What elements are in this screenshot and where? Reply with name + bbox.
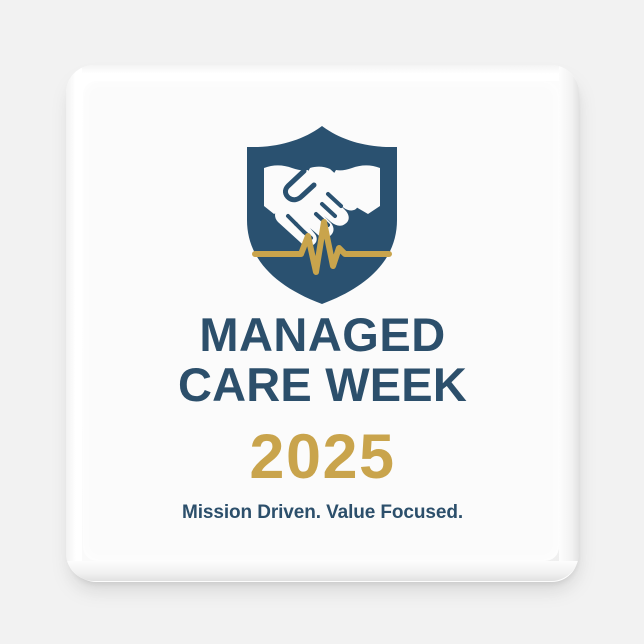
magnet-bevel-bottom [66,561,579,581]
magnet-bevel-top [66,65,579,81]
magnet-print-face [83,81,559,561]
magnet-bevel-right [559,65,579,581]
screenshot-stage: MANAGED CARE WEEK 2025 Mission Driven. V… [0,0,644,644]
magnet-bevel-left [66,65,82,581]
square-magnet-product[interactable] [66,65,579,581]
